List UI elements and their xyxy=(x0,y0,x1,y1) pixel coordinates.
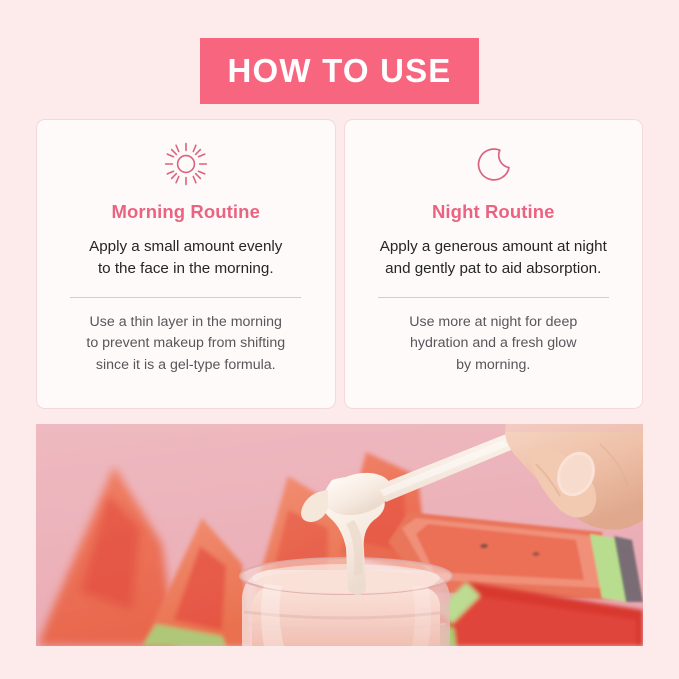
card-secondary-text: Use a thin layer in the morning to preve… xyxy=(86,312,285,376)
card-primary-text: Apply a generous amount at night and gen… xyxy=(380,236,607,280)
product-photo xyxy=(36,424,643,646)
card-title: Morning Routine xyxy=(112,201,260,223)
card-divider xyxy=(70,297,301,298)
card-divider xyxy=(378,297,609,298)
how-to-use-page: HOW TO USE xyxy=(0,0,679,679)
moon-icon xyxy=(470,138,516,190)
sun-icon xyxy=(163,138,209,190)
card-night-routine: Night Routine Apply a generous amount at… xyxy=(344,119,644,409)
header-banner-wrap: HOW TO USE xyxy=(0,38,679,104)
card-primary-text: Apply a small amount evenly to the face … xyxy=(89,236,282,280)
card-secondary-text: Use more at night for deep hydration and… xyxy=(409,312,577,376)
card-morning-routine: Morning Routine Apply a small amount eve… xyxy=(36,119,336,409)
card-title: Night Routine xyxy=(432,201,555,223)
routine-cards: Morning Routine Apply a small amount eve… xyxy=(36,119,643,409)
page-title: HOW TO USE xyxy=(200,38,478,104)
